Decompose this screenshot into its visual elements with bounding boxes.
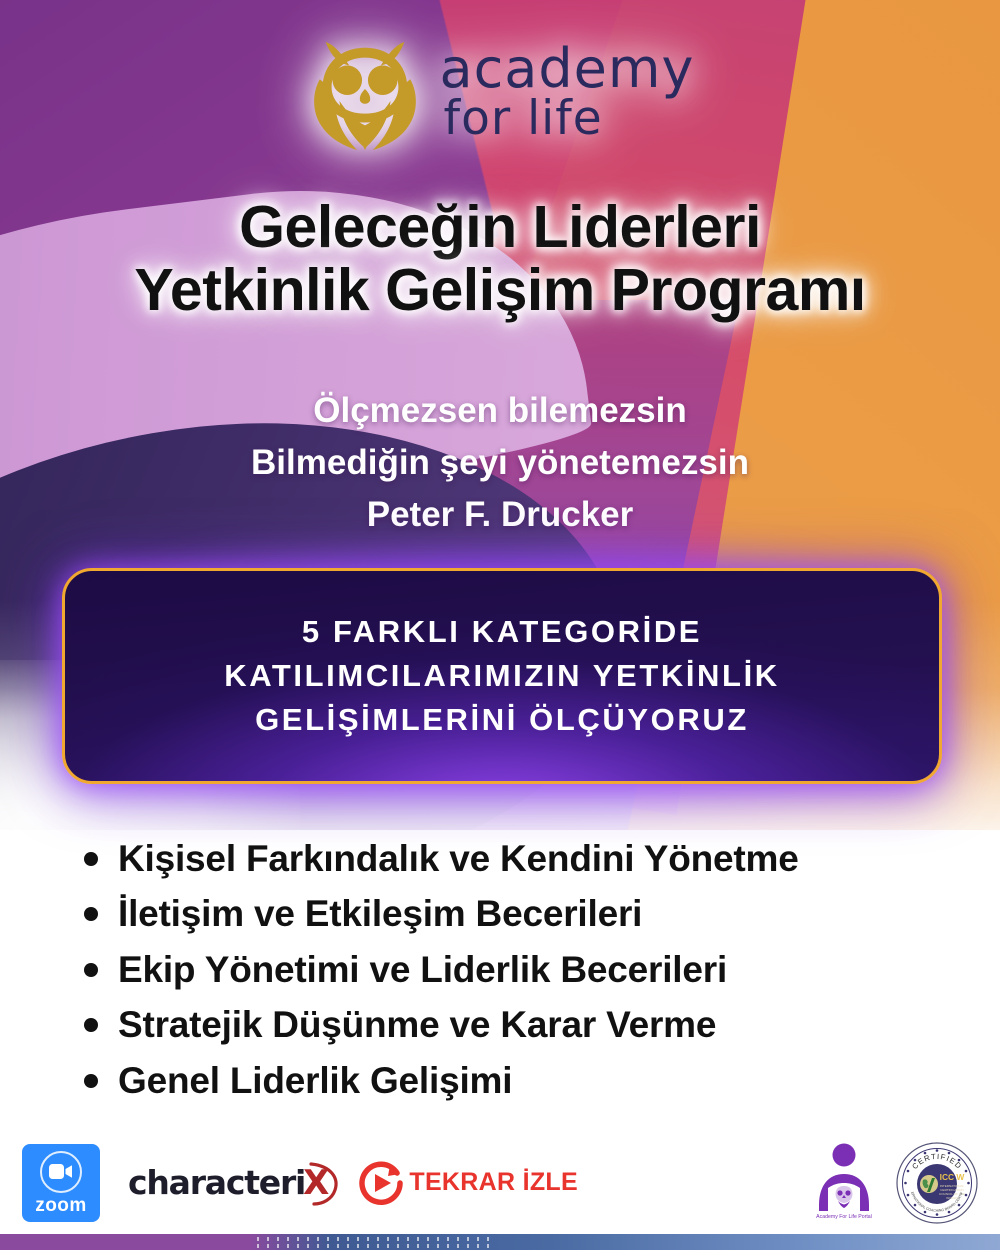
bullet-dot-icon <box>84 907 98 921</box>
list-item: Genel Liderlik Gelişimi <box>84 1060 964 1101</box>
tekrar-izle-label: TEKRAR İZLE <box>409 1168 578 1197</box>
zoom-logo: zoom <box>22 1144 100 1222</box>
zoom-label: zoom <box>35 1196 87 1215</box>
brand-name-forlife: for life <box>444 96 695 141</box>
page-title: Geleceğin Liderleri Yetkinlik Gelişim Pr… <box>0 196 1000 322</box>
characterix-x: X <box>303 1163 329 1203</box>
reader-owl-icon: Academy For Life Portal <box>808 1141 880 1225</box>
list-item-label: Ekip Yönetimi ve Liderlik Becerileri <box>118 949 727 990</box>
bullet-dot-icon <box>84 963 98 977</box>
list-item: İletişim ve Etkileşim Becerileri <box>84 893 964 934</box>
bullet-dot-icon <box>84 852 98 866</box>
brand-name-academy: academy <box>440 43 695 95</box>
list-item-label: Kişisel Farkındalık ve Kendini Yönetme <box>118 838 799 879</box>
quote-line-1: Ölçmezsen bilemezsin <box>0 385 1000 437</box>
highlight-banner: 5 FARKLI KATEGORİDE KATILIMCILARIMIZIN Y… <box>62 568 942 784</box>
page-title-line-1: Geleceğin Liderleri <box>239 194 761 260</box>
bullet-dot-icon <box>84 1074 98 1088</box>
tekrar-izle-logo: TEKRAR İZLE <box>357 1159 578 1207</box>
list-item: Stratejik Düşünme ve Karar Verme <box>84 1004 964 1045</box>
highlight-banner-line-1: 5 FARKLI KATEGORİDE <box>224 610 780 654</box>
footer-logos: zoom characteri X TEKRAR İZLE <box>0 1130 1000 1235</box>
page-title-line-2: Yetkinlik Gelişim Programı <box>0 259 1000 322</box>
certified-seal-center-text: ICC W <box>940 1172 965 1182</box>
list-item-label: Genel Liderlik Gelişimi <box>118 1060 512 1101</box>
video-camera-icon <box>40 1151 82 1193</box>
portal-badge-label: Academy For Life Portal <box>816 1214 872 1220</box>
characterix-logo: characteri X <box>128 1163 329 1203</box>
quote-block: Ölçmezsen bilemezsin Bilmediğin şeyi yön… <box>0 385 1000 540</box>
certified-seal-icon: CERTIFIED ICC W INTERNATIONAL CERTIFICAT… <box>896 1142 978 1224</box>
highlight-banner-line-3: GELİŞİMLERİNİ ÖLÇÜYORUZ <box>224 698 780 742</box>
list-item-label: Stratejik Düşünme ve Karar Verme <box>118 1004 716 1045</box>
bottom-strip <box>0 1234 1000 1250</box>
replay-play-icon <box>357 1159 405 1207</box>
bullet-dot-icon <box>84 1018 98 1032</box>
list-item-label: İletişim ve Etkileşim Becerileri <box>118 893 642 934</box>
category-list: Kişisel Farkındalık ve Kendini Yönetme İ… <box>84 838 964 1115</box>
highlight-banner-text: 5 FARKLI KATEGORİDE KATILIMCILARIMIZIN Y… <box>224 610 780 742</box>
strip-dots-pattern <box>255 1234 500 1250</box>
quote-author: Peter F. Drucker <box>0 489 1000 541</box>
quote-line-2: Bilmediğin şeyi yönetemezsin <box>0 437 1000 489</box>
highlight-banner-line-2: KATILIMCILARIMIZIN YETKİNLİK <box>224 654 780 698</box>
footer-badges: Academy For Life Portal CE <box>808 1141 978 1225</box>
owl-icon <box>306 28 424 156</box>
brand-logo: academy for life <box>0 28 1000 156</box>
footer-partner-logos: zoom characteri X TEKRAR İZLE <box>22 1144 578 1222</box>
list-item: Ekip Yönetimi ve Liderlik Becerileri <box>84 949 964 990</box>
list-item: Kişisel Farkındalık ve Kendini Yönetme <box>84 838 964 879</box>
brand-wordmark: academy for life <box>440 43 695 142</box>
poster-root: academy for life Geleceğin Liderleri Yet… <box>0 0 1000 1250</box>
characterix-word: characteri <box>128 1163 305 1202</box>
